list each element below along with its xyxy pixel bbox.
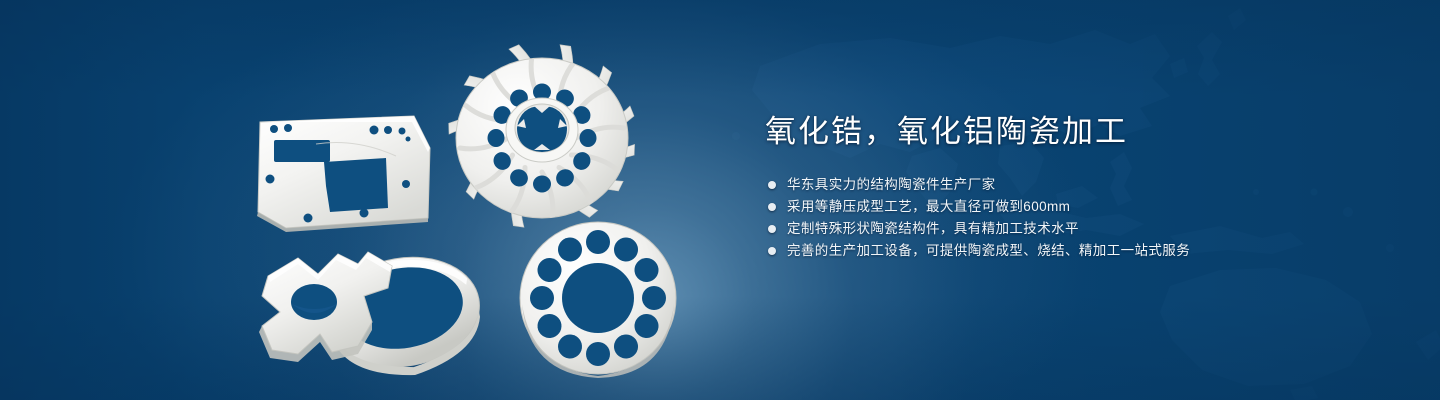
- hero-banner: 氧化锆，氧化铝陶瓷加工 华东具实力的结构陶瓷件生产厂家 采用等静压成型工艺，最大…: [0, 0, 1440, 400]
- list-item: 采用等静压成型工艺，最大直径可做到600mm: [765, 196, 1385, 218]
- list-item: 定制特殊形状陶瓷结构件，具有精加工技术水平: [765, 218, 1385, 240]
- bullet-dot-icon: [768, 247, 776, 255]
- bullet-dot-icon: [768, 225, 776, 233]
- bullet-dot-icon: [768, 203, 776, 211]
- feature-text: 定制特殊形状陶瓷结构件，具有精加工技术水平: [787, 218, 1079, 240]
- ceramic-machined-plate-image: [256, 112, 436, 234]
- bullet-dot-icon: [768, 181, 776, 189]
- product-photo-cluster: [240, 48, 720, 388]
- list-item: 完善的生产加工设备，可提供陶瓷成型、烧结、精加工一站式服务: [765, 240, 1385, 262]
- feature-text: 采用等静压成型工艺，最大直径可做到600mm: [787, 196, 1070, 218]
- banner-feature-list: 华东具实力的结构陶瓷件生产厂家 采用等静压成型工艺，最大直径可做到600mm 定…: [765, 174, 1385, 262]
- list-item: 华东具实力的结构陶瓷件生产厂家: [765, 174, 1385, 196]
- ceramic-perforated-disc-image: [516, 218, 680, 378]
- feature-text: 华东具实力的结构陶瓷件生产厂家: [787, 174, 996, 196]
- ceramic-cross-and-ring-image: [246, 230, 506, 380]
- ceramic-impeller-disc-image: [452, 50, 632, 222]
- banner-headline: 氧化锆，氧化铝陶瓷加工: [765, 112, 1385, 152]
- feature-text: 完善的生产加工设备，可提供陶瓷成型、烧结、精加工一站式服务: [787, 240, 1190, 262]
- banner-copy-block: 氧化锆，氧化铝陶瓷加工 华东具实力的结构陶瓷件生产厂家 采用等静压成型工艺，最大…: [765, 112, 1385, 262]
